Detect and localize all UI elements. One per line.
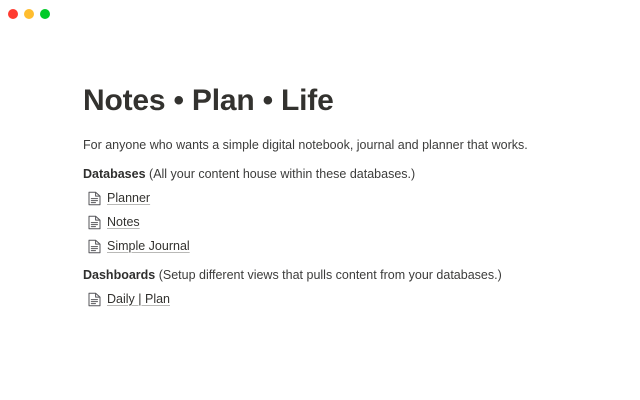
document-icon (88, 239, 101, 254)
window-controls (8, 9, 50, 19)
section-label: Databases (83, 167, 146, 181)
list-item-label[interactable]: Notes (107, 215, 140, 230)
section-note: (All your content house within these dat… (149, 167, 415, 181)
minimize-button[interactable] (24, 9, 34, 19)
section-note: (Setup different views that pulls conten… (159, 268, 502, 282)
list-item[interactable]: Planner (88, 191, 150, 206)
list-item[interactable]: Notes (88, 215, 140, 230)
section-heading-dashboards: Dashboards (Setup different views that p… (83, 267, 584, 283)
maximize-button[interactable] (40, 9, 50, 19)
document-icon (88, 191, 101, 206)
list-item[interactable]: Daily | Plan (88, 292, 170, 307)
page-title: Notes • Plan • Life (83, 84, 584, 118)
list-item-label[interactable]: Planner (107, 191, 150, 206)
list-item[interactable]: Simple Journal (88, 239, 190, 254)
document-icon (88, 292, 101, 307)
section-heading-databases: Databases (All your content house within… (83, 166, 584, 182)
list-item-label[interactable]: Simple Journal (107, 239, 190, 254)
section-label: Dashboards (83, 268, 155, 282)
list-item-label[interactable]: Daily | Plan (107, 292, 170, 307)
close-button[interactable] (8, 9, 18, 19)
title-bar (0, 0, 640, 28)
document-icon (88, 215, 101, 230)
page-subtitle: For anyone who wants a simple digital no… (83, 137, 584, 153)
page-content: Notes • Plan • Life For anyone who wants… (84, 84, 584, 307)
app-window: Notes • Plan • Life For anyone who wants… (0, 0, 640, 400)
